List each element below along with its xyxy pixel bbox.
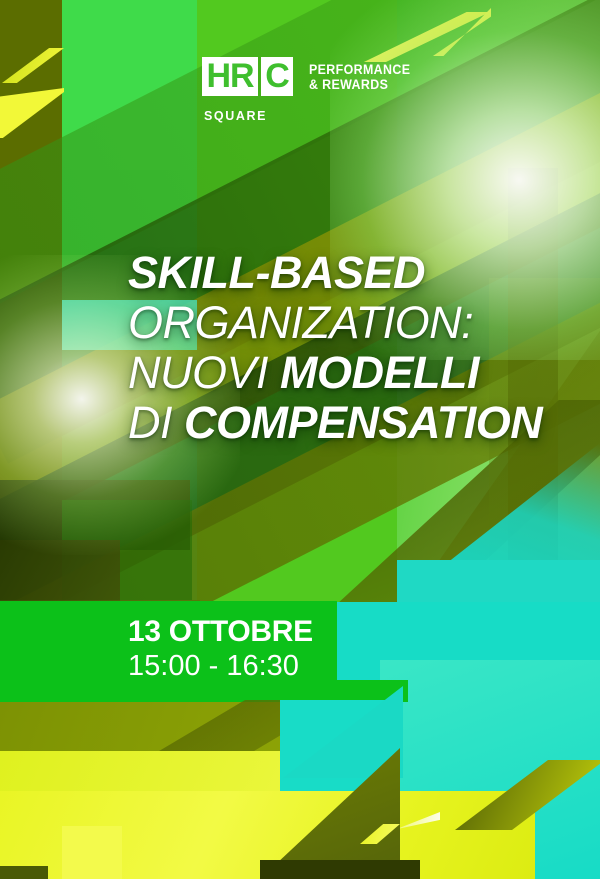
title-line-4-bold: COMPENSATION — [184, 397, 542, 448]
title-line-4-light: DI — [128, 397, 184, 448]
tagline-line-2: & REWARDS — [309, 78, 410, 93]
page-title: SKILL-BASED ORGANIZATION: NUOVI MODELLI … — [128, 248, 568, 448]
event-time: 15:00 - 16:30 — [128, 649, 313, 683]
title-line-3-bold: MODELLI — [280, 347, 479, 398]
brand-tagline: PERFORMANCE & REWARDS — [309, 57, 410, 92]
event-date: 13 OTTOBRE — [128, 615, 313, 649]
title-line-1: SKILL-BASED — [128, 248, 568, 298]
logo-subtitle: SQUARE — [204, 109, 267, 123]
logo-text-c: C — [265, 60, 289, 92]
title-line-3: NUOVI MODELLI — [128, 348, 568, 398]
hrc-logo-mark: HR C — [202, 57, 293, 96]
poster-content: HR C SQUARE PERFORMANCE & REWARDS SKILL-… — [0, 0, 600, 879]
brand-logo: HR C SQUARE PERFORMANCE & REWARDS — [202, 57, 419, 96]
logo-text-hr: HR — [206, 60, 253, 92]
logo-box-hr: HR — [202, 57, 258, 96]
event-date-inner: 13 OTTOBRE 15:00 - 16:30 — [128, 615, 313, 683]
title-line-3-light: NUOVI — [128, 347, 280, 398]
event-date-block: 13 OTTOBRE 15:00 - 16:30 — [0, 601, 337, 700]
title-line-4: DI COMPENSATION — [128, 398, 568, 448]
logo-box-c: C — [261, 57, 293, 96]
event-poster: HR C SQUARE PERFORMANCE & REWARDS SKILL-… — [0, 0, 600, 879]
tagline-line-1: PERFORMANCE — [309, 63, 410, 78]
title-line-2: ORGANIZATION: — [128, 298, 568, 348]
